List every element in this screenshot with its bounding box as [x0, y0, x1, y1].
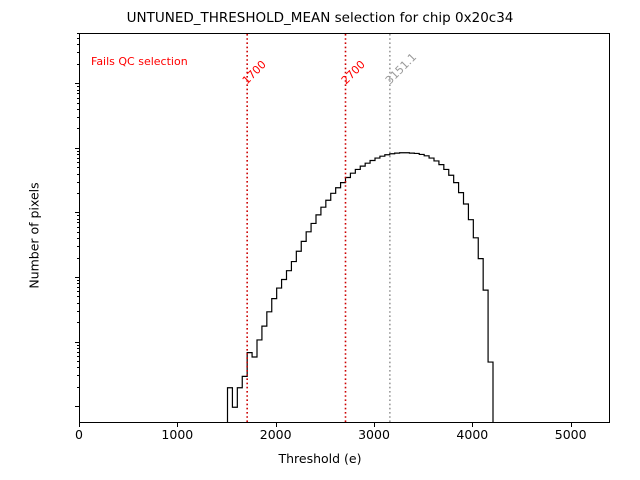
y-tick-mark	[75, 406, 79, 407]
y-minor-tick-mark	[77, 109, 80, 110]
y-minor-tick-mark	[77, 361, 80, 362]
x-tick-label: 0	[75, 427, 83, 442]
y-minor-tick-mark	[77, 291, 80, 292]
y-minor-tick-mark	[77, 158, 80, 159]
y-minor-tick-mark	[77, 128, 80, 129]
histogram-step-line	[228, 153, 494, 422]
x-tick-mark	[374, 423, 375, 427]
y-minor-tick-mark	[77, 103, 80, 104]
y-minor-tick-mark	[77, 287, 80, 288]
y-minor-tick-mark	[77, 93, 80, 94]
y-minor-tick-mark	[77, 98, 80, 99]
y-minor-tick-mark	[77, 227, 80, 228]
y-minor-tick-mark	[77, 86, 80, 87]
y-minor-tick-mark	[77, 167, 80, 168]
y-minor-tick-mark	[77, 348, 80, 349]
y-minor-tick-mark	[77, 219, 80, 220]
y-minor-tick-mark	[77, 296, 80, 297]
y-minor-tick-mark	[77, 52, 80, 53]
y-tick-mark	[75, 277, 79, 278]
x-tick-mark	[276, 423, 277, 427]
y-minor-tick-mark	[77, 387, 80, 388]
y-minor-tick-mark	[77, 352, 80, 353]
threshold-vline-group	[247, 34, 390, 422]
y-tick-mark	[75, 212, 79, 213]
y-minor-tick-mark	[77, 117, 80, 118]
y-minor-tick-mark	[77, 303, 80, 304]
x-tick-label: 3000	[358, 427, 390, 442]
y-minor-tick-mark	[77, 375, 80, 376]
y-minor-tick-mark	[77, 151, 80, 152]
y-minor-tick-mark	[77, 44, 80, 45]
y-minor-tick-mark	[77, 232, 80, 233]
plot-area	[80, 34, 609, 422]
y-minor-tick-mark	[77, 280, 80, 281]
y-minor-tick-mark	[77, 311, 80, 312]
x-tick-label: 2000	[260, 427, 292, 442]
y-minor-tick-mark	[77, 322, 80, 323]
y-minor-tick-mark	[77, 215, 80, 216]
y-minor-tick-mark	[77, 162, 80, 163]
y-minor-tick-mark	[77, 345, 80, 346]
histogram-svg	[80, 34, 609, 422]
y-minor-tick-mark	[77, 174, 80, 175]
y-minor-tick-mark	[77, 283, 80, 284]
y-minor-tick-mark	[77, 90, 80, 91]
x-axis-label: Threshold (e)	[0, 451, 640, 466]
chart-title: UNTUNED_THRESHOLD_MEAN selection for chi…	[0, 10, 640, 26]
y-axis-label: Number of pixels	[27, 106, 42, 366]
y-tick-mark	[75, 342, 79, 343]
x-tick-label: 1000	[161, 427, 193, 442]
plot-axes: Fails QC selection 170027003151.1	[79, 33, 610, 423]
fails-qc-annotation: Fails QC selection	[91, 55, 188, 68]
figure-canvas: UNTUNED_THRESHOLD_MEAN selection for chi…	[0, 0, 640, 480]
y-minor-tick-mark	[77, 154, 80, 155]
y-minor-tick-mark	[77, 38, 80, 39]
x-tick-mark	[571, 423, 572, 427]
y-minor-tick-mark	[77, 182, 80, 183]
y-minor-tick-mark	[77, 193, 80, 194]
y-minor-tick-mark	[77, 356, 80, 357]
y-minor-tick-mark	[77, 33, 80, 34]
x-tick-label: 5000	[555, 427, 587, 442]
x-tick-mark	[177, 423, 178, 427]
y-tick-mark	[75, 83, 79, 84]
x-tick-mark	[472, 423, 473, 427]
y-minor-tick-mark	[77, 238, 80, 239]
y-tick-mark	[75, 148, 79, 149]
x-tick-mark	[79, 423, 80, 427]
y-minor-tick-mark	[77, 367, 80, 368]
x-tick-label: 4000	[456, 427, 488, 442]
y-minor-tick-mark	[77, 246, 80, 247]
y-minor-tick-mark	[77, 222, 80, 223]
y-minor-tick-mark	[77, 258, 80, 259]
y-minor-tick-mark	[77, 64, 80, 65]
